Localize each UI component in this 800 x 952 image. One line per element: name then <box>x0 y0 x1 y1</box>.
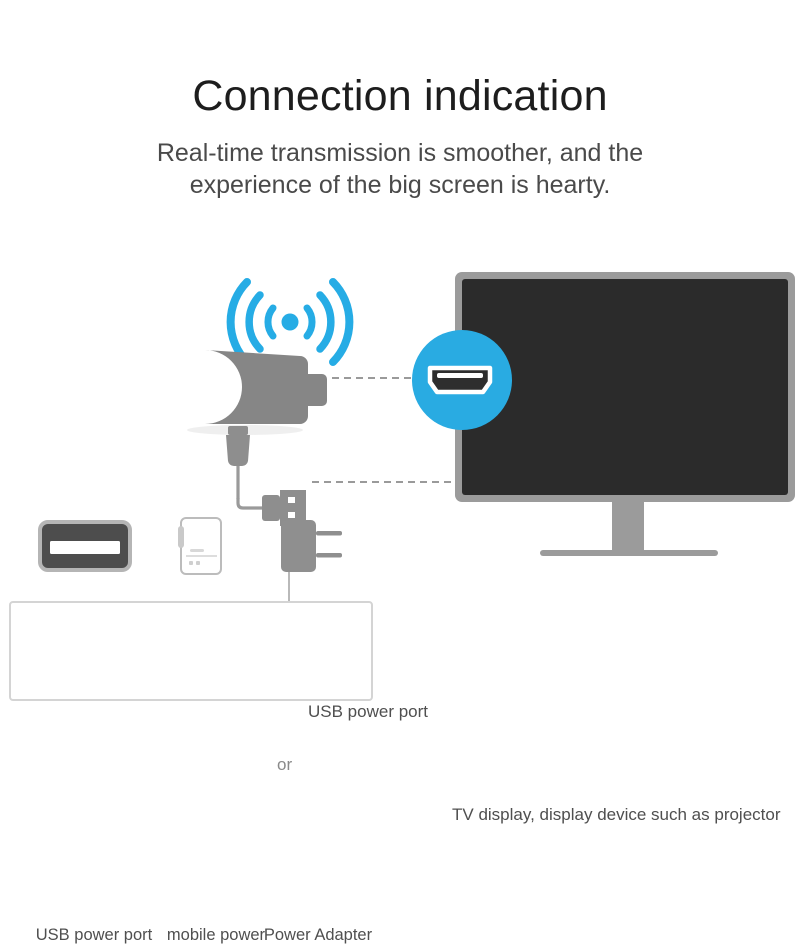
wifi-center-dot <box>282 314 299 331</box>
power-option-label-power-adapter: Power Adapter <box>262 926 374 945</box>
connection-diagram: USB power port or TV display, display de… <box>0 250 800 800</box>
power-bank-icon <box>178 518 221 574</box>
tv-caption-label: TV display, display device such as proje… <box>452 805 781 825</box>
power-option-label-usb-power-port: USB power port <box>24 926 164 945</box>
micro-usb-plug-icon <box>226 426 262 508</box>
wifi-signal-icon <box>231 282 350 362</box>
header: Connection indication Real-time transmis… <box>0 72 800 201</box>
or-label: or <box>277 755 292 775</box>
hdmi-port-icon <box>430 368 490 392</box>
hdmi-dongle-icon <box>187 350 327 435</box>
usb-power-port-label: USB power port <box>308 702 428 722</box>
page-root: Connection indication Real-time transmis… <box>0 0 800 800</box>
tv-monitor-icon <box>455 272 795 556</box>
wall-charger-icon <box>281 520 342 572</box>
power-options-labels: USB power port mobile power Power Adapte… <box>10 926 370 952</box>
usb-a-port-icon <box>40 522 130 570</box>
page-subtitle: Real-time transmission is smoother, and … <box>110 137 690 201</box>
hdmi-port-badge <box>412 330 512 430</box>
power-options-box <box>10 518 372 700</box>
power-option-label-mobile-power: mobile power <box>158 926 274 945</box>
page-title: Connection indication <box>0 72 800 121</box>
